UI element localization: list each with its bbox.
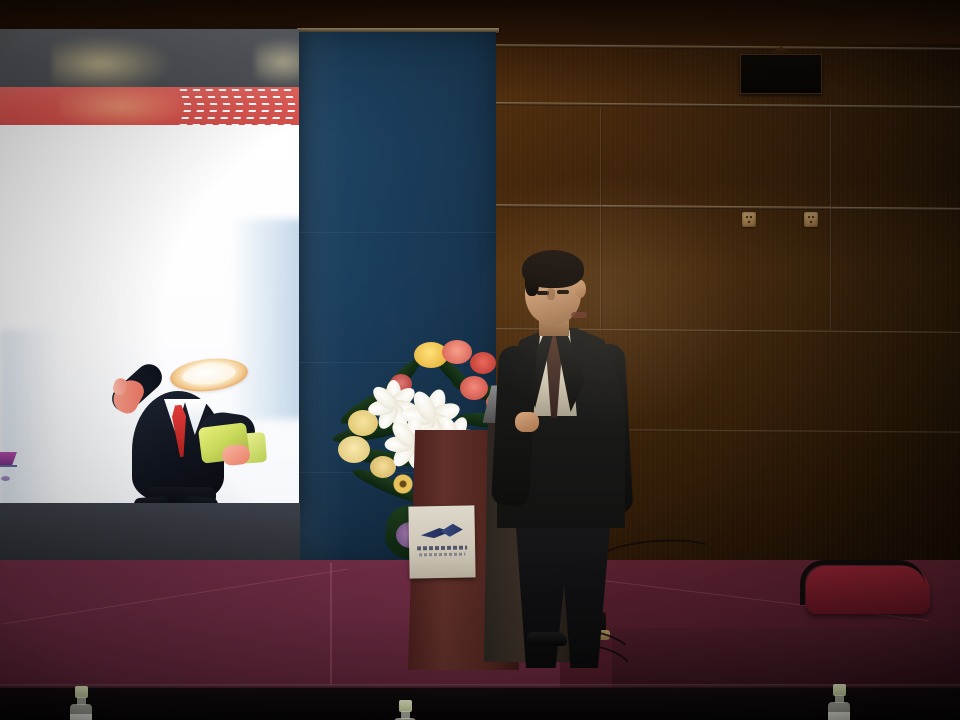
seat-armrest	[800, 560, 925, 605]
presenter-hand-left	[515, 412, 539, 432]
red-bloom	[470, 352, 496, 374]
cream-bloom	[338, 436, 370, 463]
wall-plate-outlet-left-icon	[742, 212, 756, 227]
photo-scene: Conference presentation at podium	[0, 0, 960, 720]
podium-sign	[408, 505, 475, 578]
slide-corner-logo-icon	[0, 452, 21, 471]
presenter-hair	[522, 250, 584, 288]
podium-sign-text-line-1	[417, 546, 467, 551]
pink-bloom	[442, 340, 472, 364]
presenter-nose	[547, 288, 555, 300]
screen-valance	[0, 503, 300, 567]
pink-bloom	[460, 376, 488, 400]
projection-screen	[0, 29, 299, 507]
slide-header-band	[0, 29, 299, 87]
yellow-daisy	[390, 472, 416, 496]
presenter	[497, 250, 632, 670]
wall-plate-outlet-right-icon	[804, 212, 818, 227]
blue-swoosh-logo-icon	[421, 524, 463, 541]
projector-glare	[255, 37, 299, 87]
podium-sign-text-line-2	[419, 553, 465, 557]
water-bottle-left	[68, 686, 94, 720]
projector-glare	[52, 35, 172, 87]
cartoon-raised-hand-icon	[109, 375, 148, 417]
presenter-shoe	[527, 632, 567, 646]
water-bottle-right	[826, 684, 852, 720]
cartoon-businessman-icon	[90, 357, 280, 507]
chevron-pattern-icon	[179, 87, 299, 125]
slide-haze-left	[0, 329, 60, 507]
cartoon-plate-icon	[169, 355, 250, 395]
ceiling-speaker-box-icon	[740, 54, 822, 94]
wall-seam-vertical	[830, 108, 832, 330]
water-bottle-center	[392, 700, 418, 720]
stage-front-edge	[0, 688, 960, 720]
stage-seam	[330, 563, 332, 685]
stage-riser	[612, 628, 960, 688]
